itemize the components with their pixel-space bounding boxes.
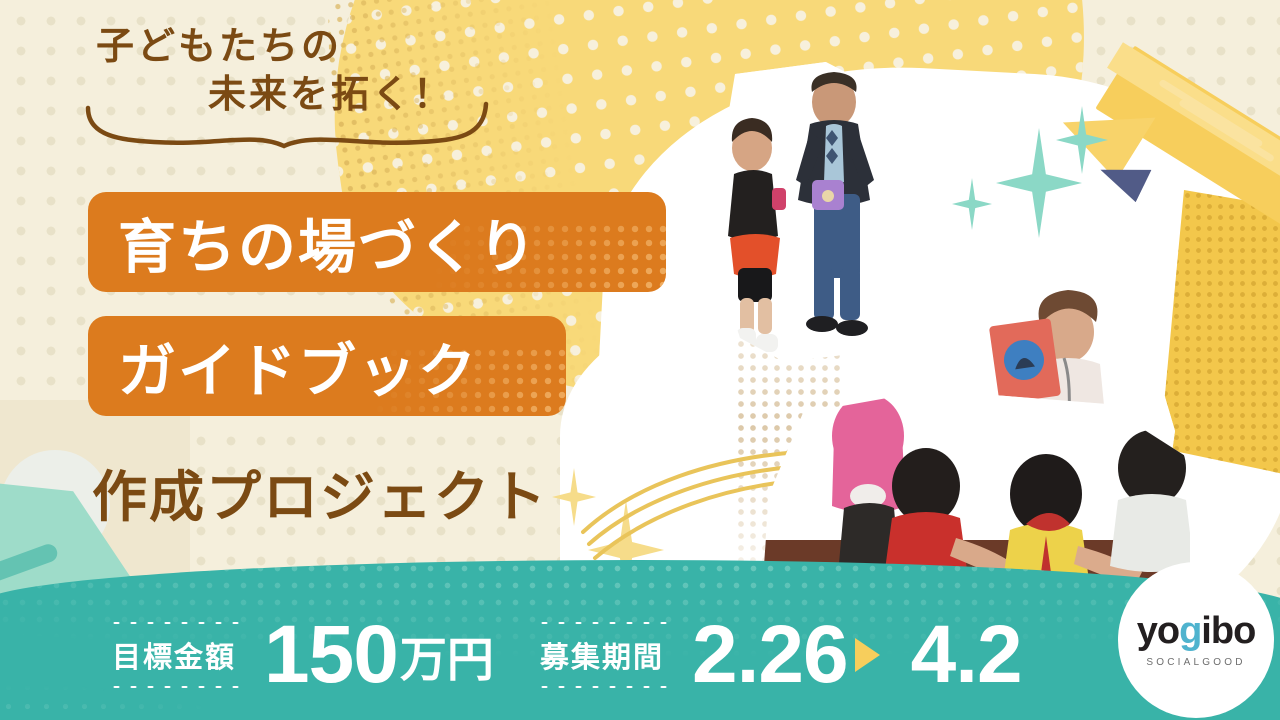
period-label-box: 募集期間 xyxy=(536,618,668,692)
photo-father-girl xyxy=(686,62,911,362)
title-pill-primary: 育ちの場づくり xyxy=(88,192,666,292)
sparkle-teal-tiny-icon xyxy=(952,178,992,230)
title-pill-primary-label: 育ちの場づくり xyxy=(118,200,538,284)
photo-father-girl-content xyxy=(686,62,911,362)
title-pill-secondary: ガイドブック xyxy=(88,316,566,416)
logo-text-left: yo xyxy=(1137,610,1179,652)
logo-tagline: SOCIALGOOD xyxy=(1146,657,1245,668)
stat-goal-amount: 目標金額 150 万円 xyxy=(108,614,494,696)
stat-period: 募集期間 2.26 4.2 xyxy=(536,614,1022,696)
period-dotted-line-bottom xyxy=(536,684,668,690)
curly-brace-underline xyxy=(84,96,494,158)
logo-text-g: g xyxy=(1179,610,1201,652)
sparkle-teal-small-icon xyxy=(1056,106,1108,174)
goal-label: 目標金額 xyxy=(112,634,236,676)
period-end-date: 4.2 xyxy=(911,614,1022,696)
subtitle-text: 作成プロジェクト xyxy=(92,452,548,532)
logo-wordmark: yogibo xyxy=(1137,612,1256,650)
goal-label-box: 目標金額 xyxy=(108,618,240,692)
title-pill-secondary-label: ガイドブック xyxy=(118,324,478,408)
lead-line-1: 子どもたちの xyxy=(96,24,556,72)
period-dotted-line-top xyxy=(536,620,668,626)
arrow-right-icon xyxy=(855,638,880,672)
campaign-banner: 子どもたちの 未来を拓く！ 育ちの場づくり ガイドブック 作成プロジェクト 目標… xyxy=(0,0,1280,720)
period-label: 募集期間 xyxy=(540,634,664,676)
yogibo-social-good-logo: yogibo SOCIALGOOD xyxy=(1118,562,1274,718)
goal-dotted-line-top xyxy=(108,620,240,626)
logo-text-right: ibo xyxy=(1201,610,1255,652)
period-start-date: 2.26 xyxy=(692,614,848,696)
goal-dotted-line-bottom xyxy=(108,684,240,690)
goal-value: 150 xyxy=(264,614,398,696)
goal-unit: 万円 xyxy=(400,621,494,690)
